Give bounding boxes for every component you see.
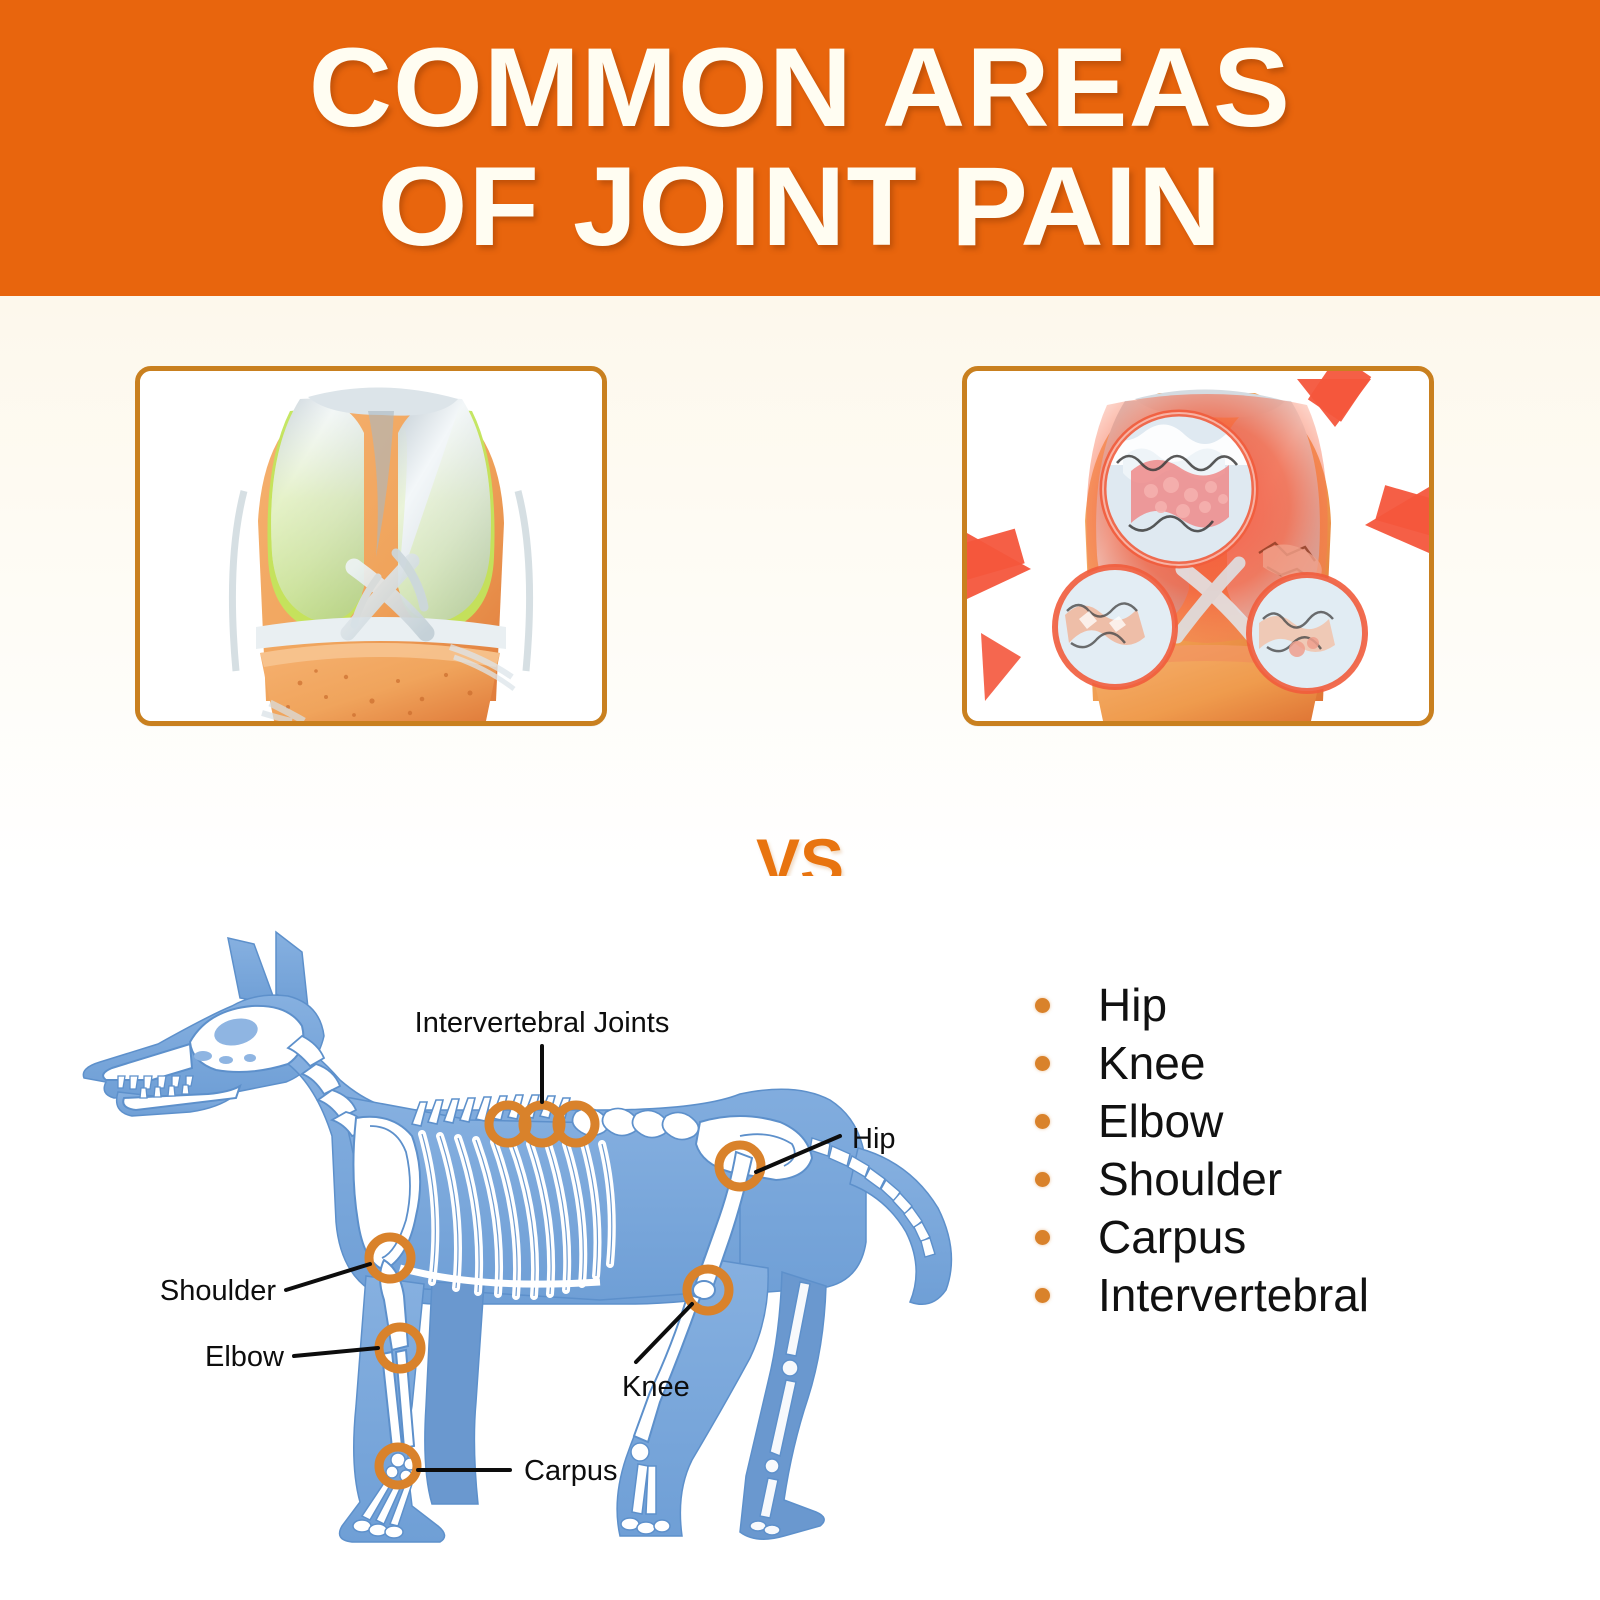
- damage-callout-right: [1249, 575, 1365, 691]
- header-banner: COMMON AREAS OF JOINT PAIN: [0, 0, 1600, 296]
- list-item: Intervertebral: [1035, 1266, 1369, 1324]
- infographic-page: COMMON AREAS OF JOINT PAIN: [0, 0, 1600, 1600]
- diagram-label-elbow: Elbow: [205, 1341, 285, 1373]
- diagram-label-shoulder: Shoulder: [160, 1275, 276, 1307]
- list-item: Elbow: [1035, 1092, 1369, 1150]
- dog-skeleton-diagram: Intervertebral Joints Hip Shoulder Elbow…: [40, 886, 1000, 1586]
- bullet-dot-icon: [1035, 1288, 1050, 1303]
- joint-list-label-hip: Hip: [1098, 978, 1167, 1032]
- bullet-dot-icon: [1035, 1114, 1050, 1129]
- joint-list-label-elbow: Elbow: [1098, 1094, 1223, 1148]
- diagram-label-knee: Knee: [622, 1371, 690, 1403]
- diagram-label-carpus: Carpus: [524, 1455, 618, 1487]
- joint-list-label-intervertebral: Intervertebral: [1098, 1268, 1369, 1322]
- bullet-dot-icon: [1035, 1172, 1050, 1187]
- damaged-joint-frame: [962, 366, 1434, 726]
- diagram-label-hip: Hip: [852, 1123, 896, 1155]
- bullet-dot-icon: [1035, 1056, 1050, 1071]
- damage-callout-left: [1055, 567, 1175, 687]
- list-item: Shoulder: [1035, 1150, 1369, 1208]
- header-title-line-2: OF JOINT PAIN: [378, 148, 1222, 267]
- joint-list-label-carpus: Carpus: [1098, 1210, 1246, 1264]
- damage-callout-top: [1103, 413, 1259, 565]
- bullet-dot-icon: [1035, 998, 1050, 1013]
- diagram-label-intervertebral: Intervertebral Joints: [415, 1007, 670, 1039]
- dog-diagram-section: Intervertebral Joints Hip Shoulder Elbow…: [0, 876, 1600, 1600]
- healthy-joint-frame: [135, 366, 607, 726]
- header-title-line-1: COMMON AREAS: [309, 29, 1291, 148]
- list-item: Carpus: [1035, 1208, 1369, 1266]
- joint-comparison-band: VS: [0, 296, 1600, 876]
- bullet-dot-icon: [1035, 1230, 1050, 1245]
- damaged-knee-joint-illustration: [967, 371, 1429, 721]
- healthy-knee-joint-illustration: [140, 371, 602, 721]
- joint-list-label-knee: Knee: [1098, 1036, 1205, 1090]
- joint-list: Hip Knee Elbow Shoulder Carpus Intervert…: [1035, 976, 1369, 1324]
- list-item: Knee: [1035, 1034, 1369, 1092]
- joint-list-label-shoulder: Shoulder: [1098, 1152, 1282, 1206]
- list-item: Hip: [1035, 976, 1369, 1034]
